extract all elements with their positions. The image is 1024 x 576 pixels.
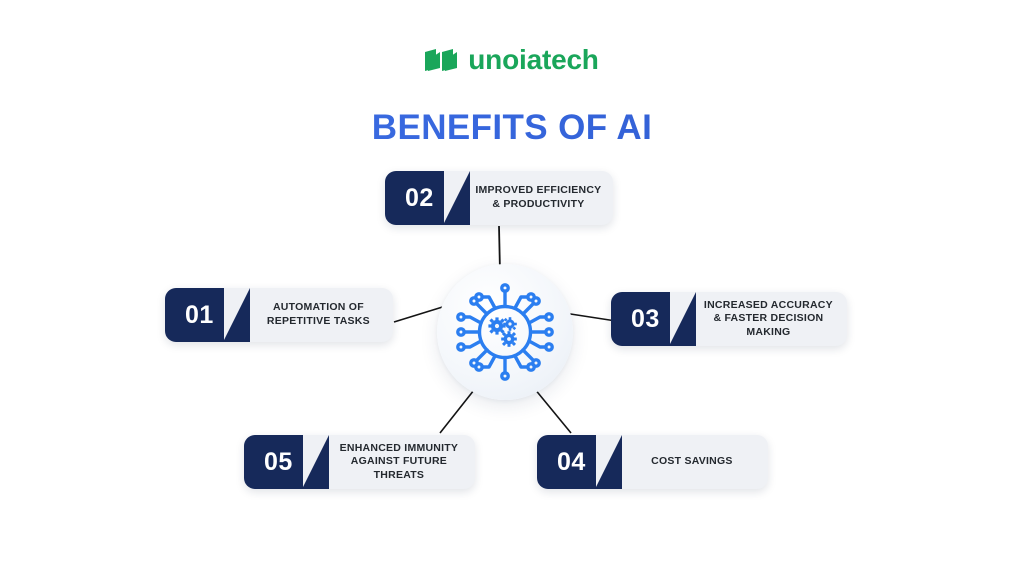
gears-cluster-icon [488, 317, 516, 347]
benefit-number: 01 [165, 288, 224, 342]
benefit-card-03[interactable]: 03 INCREASED ACCURACY & FASTER DECISION … [611, 292, 847, 346]
benefit-number: 05 [244, 435, 303, 489]
page-title: BENEFITS OF AI [0, 108, 1024, 148]
connector-line-04 [534, 388, 571, 433]
fast-forward-mark-icon [425, 49, 459, 71]
connector-line-05 [440, 390, 474, 433]
benefit-card-04[interactable]: 04 COST SAVINGS [537, 435, 768, 489]
infographic-canvas: unoiatech BENEFITS OF AI [0, 0, 1024, 576]
benefit-number: 03 [611, 292, 670, 346]
brand-logo-text: unoiatech [468, 46, 598, 74]
ai-hub [437, 264, 573, 400]
ai-circuit-gears-icon [449, 276, 561, 388]
benefit-number: 04 [537, 435, 596, 489]
benefit-card-02[interactable]: 02 IMPROVED EFFICIENCY & PRODUCTIVITY [385, 171, 613, 225]
benefit-number: 02 [385, 171, 444, 225]
benefit-card-05[interactable]: 05 ENHANCED IMMUNITY AGAINST FUTURE THRE… [244, 435, 475, 489]
brand-logo: unoiatech [0, 42, 1024, 78]
benefit-label: INCREASED ACCURACY & FASTER DECISION MAK… [670, 292, 847, 346]
benefit-card-01[interactable]: 01 AUTOMATION OF REPETITIVE TASKS [165, 288, 393, 342]
